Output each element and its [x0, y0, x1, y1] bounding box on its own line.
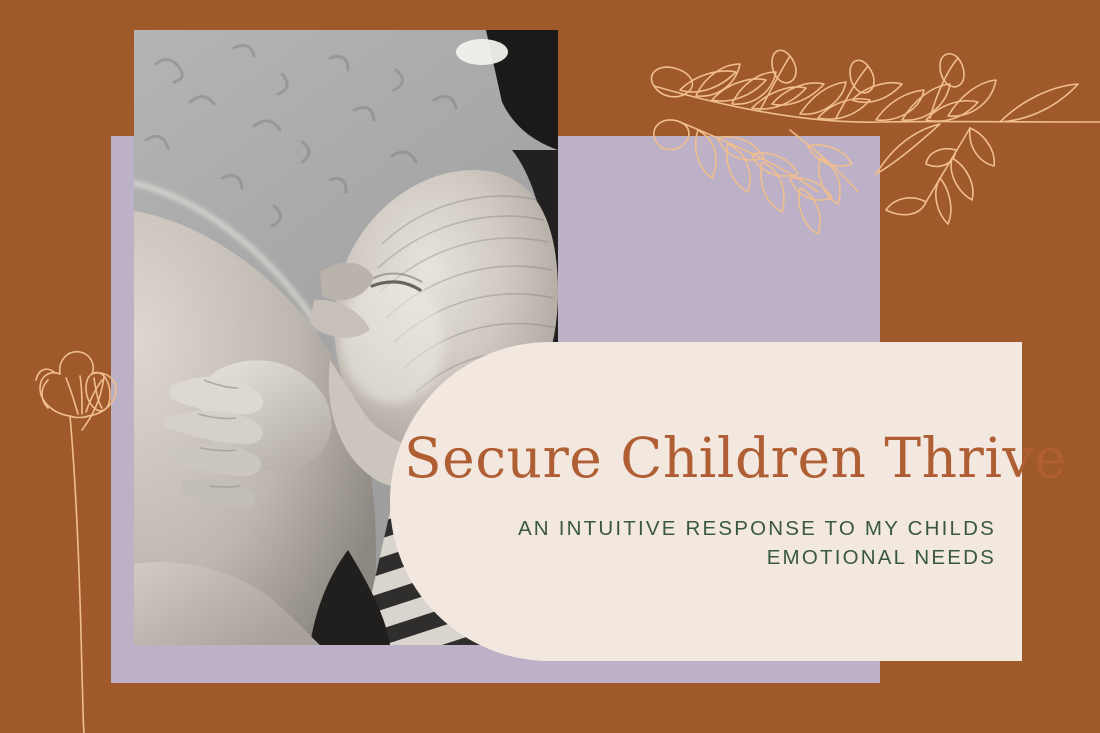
- page-subtitle: An Intuitive Response To My Childs Emoti…: [390, 514, 996, 573]
- poster-canvas: Secure Children Thrive An Intuitive Resp…: [0, 0, 1100, 733]
- subtitle-line-1: An Intuitive Response To My Childs: [390, 514, 996, 544]
- title-card: Secure Children Thrive An Intuitive Resp…: [390, 342, 1022, 661]
- subtitle-line-2: Emotional Needs: [390, 543, 996, 573]
- page-title: Secure Children Thrive: [390, 430, 996, 488]
